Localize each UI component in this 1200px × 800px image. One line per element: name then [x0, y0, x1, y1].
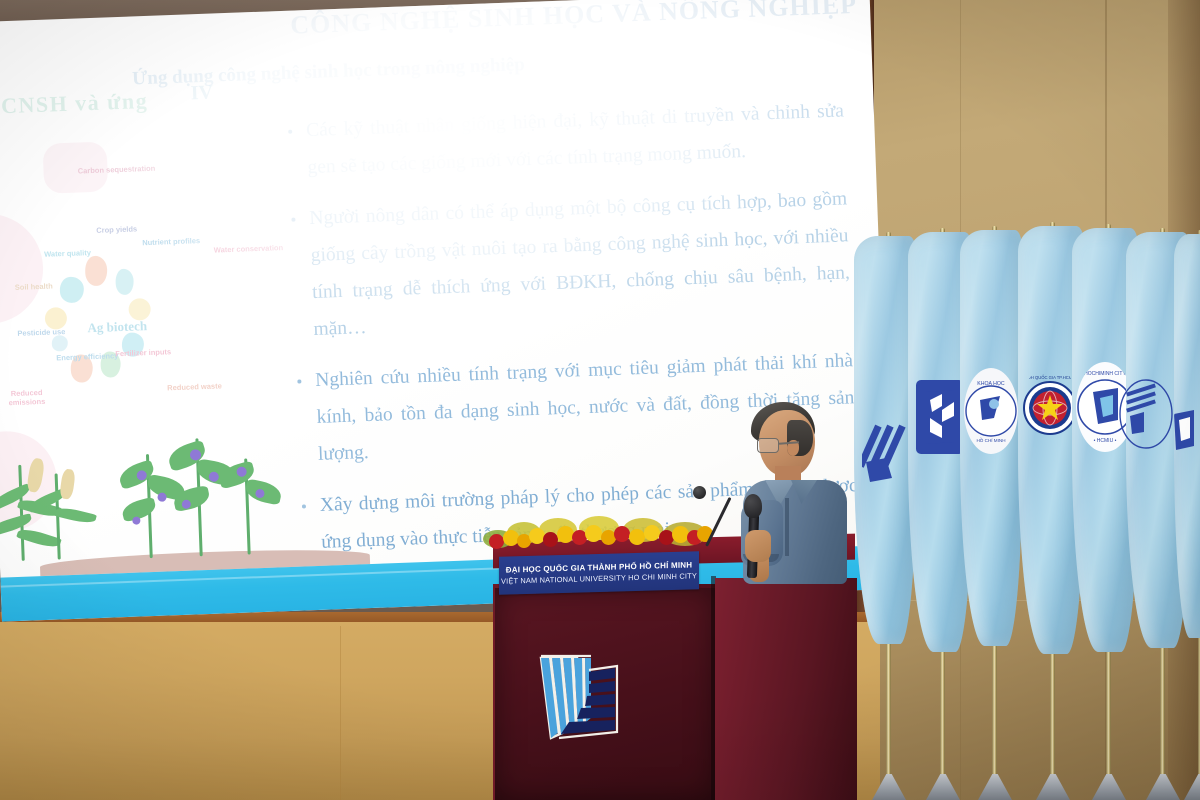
podium-side-face [715, 578, 857, 800]
infographic-node: Crop yields [84, 224, 150, 235]
slide-kicker: CNSH và ứng [1, 88, 149, 119]
flag-row: KHOA HỌC HỒ CHÍ MINH ĐH QUỐC GI [862, 222, 1200, 800]
handheld-microphone-head [744, 494, 762, 518]
infographic-node: Reduced waste [161, 381, 227, 392]
uit-emblem [1118, 372, 1174, 456]
flower-arrangement [483, 508, 713, 556]
shirt-placket [785, 498, 789, 556]
khoa-hoc-tu-nhien-emblem: KHOA HỌC HỒ CHÍ MINH [964, 368, 1018, 454]
slide-bullet-item: Người nông dân có thể áp dụng một bộ côn… [287, 180, 852, 348]
hand [745, 530, 771, 562]
vnu-hcm-v-logo [529, 646, 627, 746]
infographic-center-label: Ag biotech [77, 318, 157, 336]
slide-subtitle: Ứng dụng công nghệ sinh học trong nông n… [132, 46, 752, 91]
svg-text:HOCHIMINH CITY: HOCHIMINH CITY [1084, 371, 1126, 377]
partial-emblem [1172, 400, 1200, 460]
stage-wall-seam [340, 626, 341, 800]
podium-name-sign: ĐẠI HỌC QUỐC GIA THÀNH PHỐ HỒ CHÍ MINH V… [499, 551, 699, 595]
svg-text:KHOA HỌC: KHOA HỌC [977, 381, 1005, 387]
slide-kicker-superscript: IV [190, 82, 213, 106]
chevron-stripes-emblem [862, 414, 908, 488]
infographic-node: Fertilizer inputs [110, 347, 176, 358]
glasses-icon [757, 438, 779, 453]
slide-bullet-item: Các kỹ thuật nhân giống hiện đại, kỹ thu… [284, 92, 846, 186]
conference-photo-scene: CÔNG NGHỆ SINH HỌC VÀ NÔNG NGHIỆP Ứng dụ… [0, 0, 1200, 800]
infographic-node: Water conservation [212, 243, 284, 255]
national-star-emblem: ĐH QUỐC GIA TP.HCM [1022, 364, 1078, 452]
infographic-node: Nutrient profiles [136, 236, 206, 248]
svg-text:HỒ CHÍ MINH: HỒ CHÍ MINH [976, 437, 1005, 443]
infographic-node: Soil health [4, 281, 64, 292]
svg-text:ĐH QUỐC GIA TP.HCM: ĐH QUỐC GIA TP.HCM [1028, 375, 1073, 380]
svg-text:• HCMIU •: • HCMIU • [1094, 438, 1117, 444]
bach-khoa-bk-emblem [916, 380, 964, 454]
gooseneck-microphone-head [693, 486, 706, 499]
slide-plant-illustration [0, 402, 420, 577]
infographic-node: Carbon sequestration [77, 164, 155, 176]
infographic-node: Reduced emissions [0, 387, 58, 407]
speaker-person [735, 402, 860, 582]
